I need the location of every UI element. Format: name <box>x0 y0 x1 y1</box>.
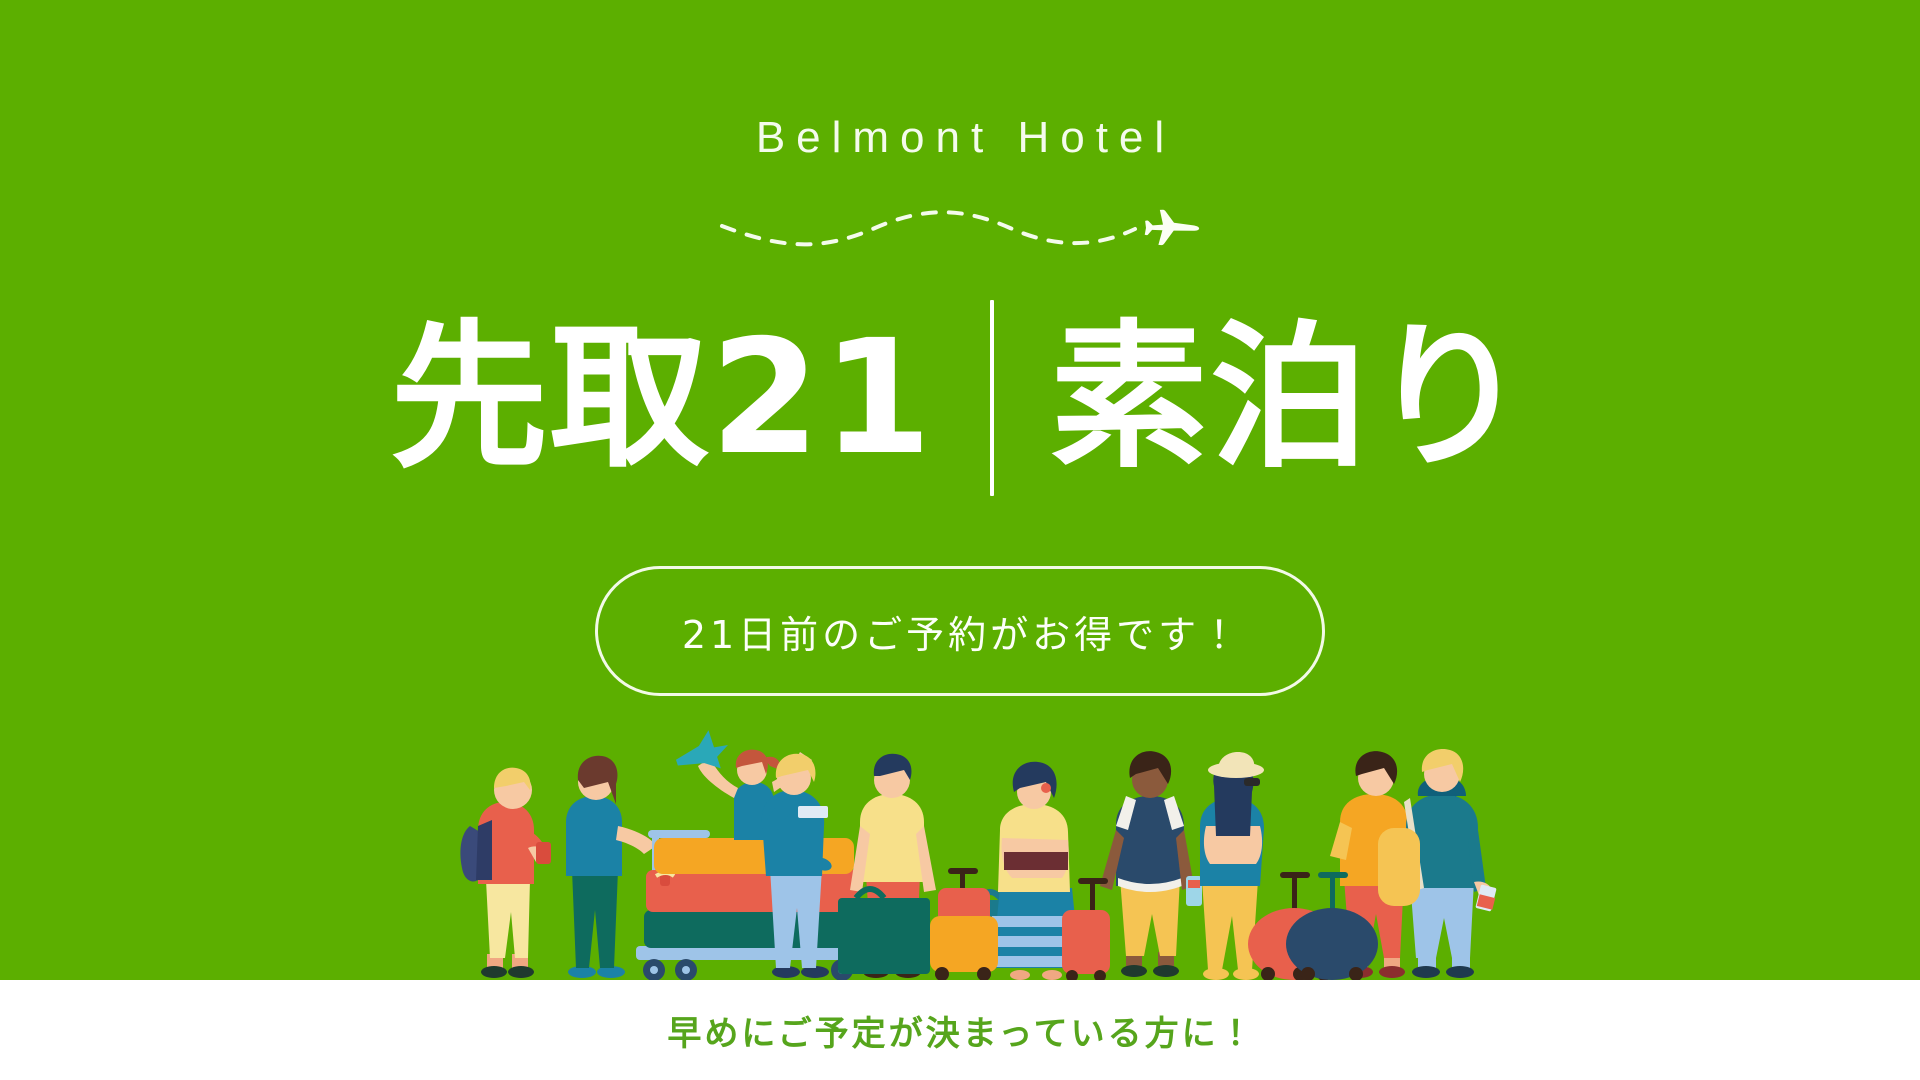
headline-right-text: 素泊り <box>994 305 1530 491</box>
footer-strip: 早めにご予定が決まっている方に！ <box>0 980 1920 1080</box>
headline-left-text: 先取21 <box>390 305 990 491</box>
travelers-illustration <box>0 730 1920 980</box>
footer-message: 早めにご予定が決まっている方に！ <box>664 1006 1255 1055</box>
figure-man-tank-top <box>1100 751 1202 977</box>
hero-panel: Belmont Hotel 先取21 素泊り 21日前のご予約がお得です！ <box>0 0 1920 980</box>
luggage-cart <box>636 830 862 980</box>
dashed-path-icon <box>722 212 1135 244</box>
flight-path-decoration <box>710 196 1210 258</box>
figure-man-with-backpack-phone <box>460 768 551 978</box>
brand-title: Belmont Hotel <box>0 116 1920 160</box>
promo-pill[interactable]: 21日前のご予約がお得です！ <box>595 566 1325 696</box>
figure-woman-pushing-cart <box>566 756 656 978</box>
headline: 先取21 素泊り <box>0 300 1920 496</box>
airplane-icon <box>1145 210 1199 245</box>
promo-banner: Belmont Hotel 先取21 素泊り 21日前のご予約がお得です！ <box>0 0 1920 1080</box>
promo-pill-label: 21日前のご予約がお得です！ <box>678 604 1242 659</box>
suitcase-group-orange-red <box>930 868 998 980</box>
